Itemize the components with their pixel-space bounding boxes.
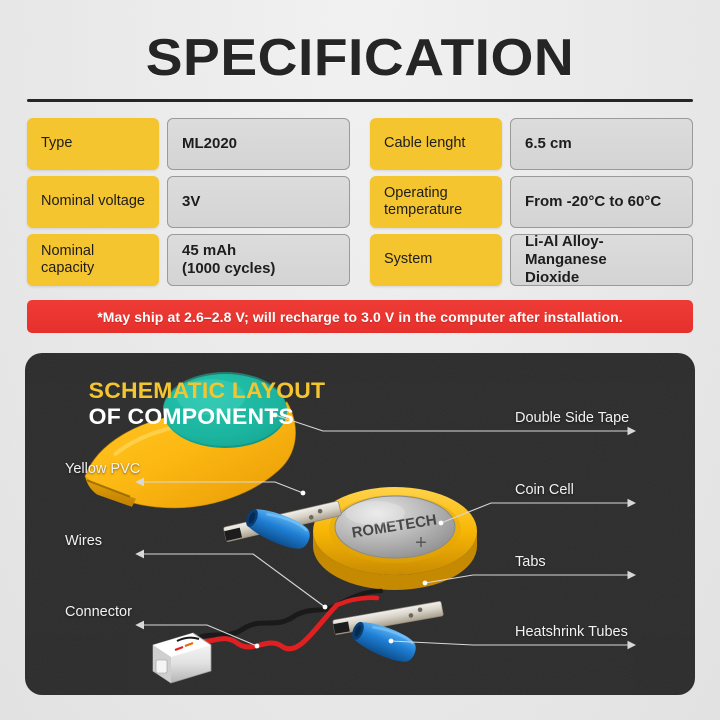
spec-column-left: Type ML2020 Nominal voltage 3V Nominal c… bbox=[27, 118, 350, 292]
spec-column-right: Cable lenght 6.5 cm Operating temperatur… bbox=[370, 118, 693, 292]
spec-value-line: 3V bbox=[182, 193, 200, 211]
infographic-page: SPECIFICATION Type ML2020 Nominal voltag… bbox=[0, 0, 720, 720]
spec-label: Cable lenght bbox=[370, 118, 502, 170]
callout-label-yellow-pvc: Yellow PVC bbox=[65, 461, 140, 477]
schematic-panel: SCHEMATIC LAYOUT OF COMPONENTS bbox=[25, 353, 695, 695]
spec-value: From -20°C to 60°C bbox=[510, 176, 693, 228]
schematic-heading-line2: OF COMPONENTS bbox=[89, 404, 326, 430]
spec-label: System bbox=[370, 234, 502, 286]
title-divider bbox=[27, 99, 693, 102]
callout-label-heatshrink-tubes: Heatshrink Tubes bbox=[515, 624, 628, 640]
spec-value: 6.5 cm bbox=[510, 118, 693, 170]
callout-label-connector: Connector bbox=[65, 604, 132, 620]
spec-row: System Li-Al Alloy-Manganese Dioxide bbox=[370, 234, 693, 286]
spec-value-line: From -20°C to 60°C bbox=[525, 193, 661, 211]
callout-label-coin-cell: Coin Cell bbox=[515, 482, 574, 498]
spec-label: Nominal capacity bbox=[27, 234, 159, 286]
spec-value-line: 45 mAh bbox=[182, 242, 275, 260]
callout-label-tabs: Tabs bbox=[515, 554, 546, 570]
spec-value-line: (1000 cycles) bbox=[182, 260, 275, 278]
warning-text: *May ship at 2.6–2.8 V; will recharge to… bbox=[97, 309, 623, 325]
spec-value: Li-Al Alloy-Manganese Dioxide bbox=[510, 234, 693, 286]
callout-label-double-side-tape: Double Side Tape bbox=[515, 410, 629, 426]
warning-banner: *May ship at 2.6–2.8 V; will recharge to… bbox=[27, 300, 693, 333]
page-title: SPECIFICATION bbox=[0, 28, 720, 88]
spec-value-line: Li-Al Alloy-Manganese bbox=[525, 233, 678, 268]
spec-row: Nominal capacity 45 mAh (1000 cycles) bbox=[27, 234, 350, 286]
callout-label-wires: Wires bbox=[65, 533, 102, 549]
schematic-heading-line1: SCHEMATIC LAYOUT bbox=[89, 378, 326, 404]
spec-value-line: ML2020 bbox=[182, 135, 237, 153]
spec-row: Nominal voltage 3V bbox=[27, 176, 350, 228]
spec-row: Cable lenght 6.5 cm bbox=[370, 118, 693, 170]
spec-label: Type bbox=[27, 118, 159, 170]
spec-value: 45 mAh (1000 cycles) bbox=[167, 234, 350, 286]
spec-row: Type ML2020 bbox=[27, 118, 350, 170]
spec-value: ML2020 bbox=[167, 118, 350, 170]
spec-value: 3V bbox=[167, 176, 350, 228]
spec-label: Operating temperature bbox=[370, 176, 502, 228]
spec-label: Nominal voltage bbox=[27, 176, 159, 228]
spec-value-line: Dioxide bbox=[525, 269, 678, 287]
spec-row: Operating temperature From -20°C to 60°C bbox=[370, 176, 693, 228]
spec-value-line: 6.5 cm bbox=[525, 135, 572, 153]
schematic-heading: SCHEMATIC LAYOUT OF COMPONENTS bbox=[91, 378, 323, 430]
